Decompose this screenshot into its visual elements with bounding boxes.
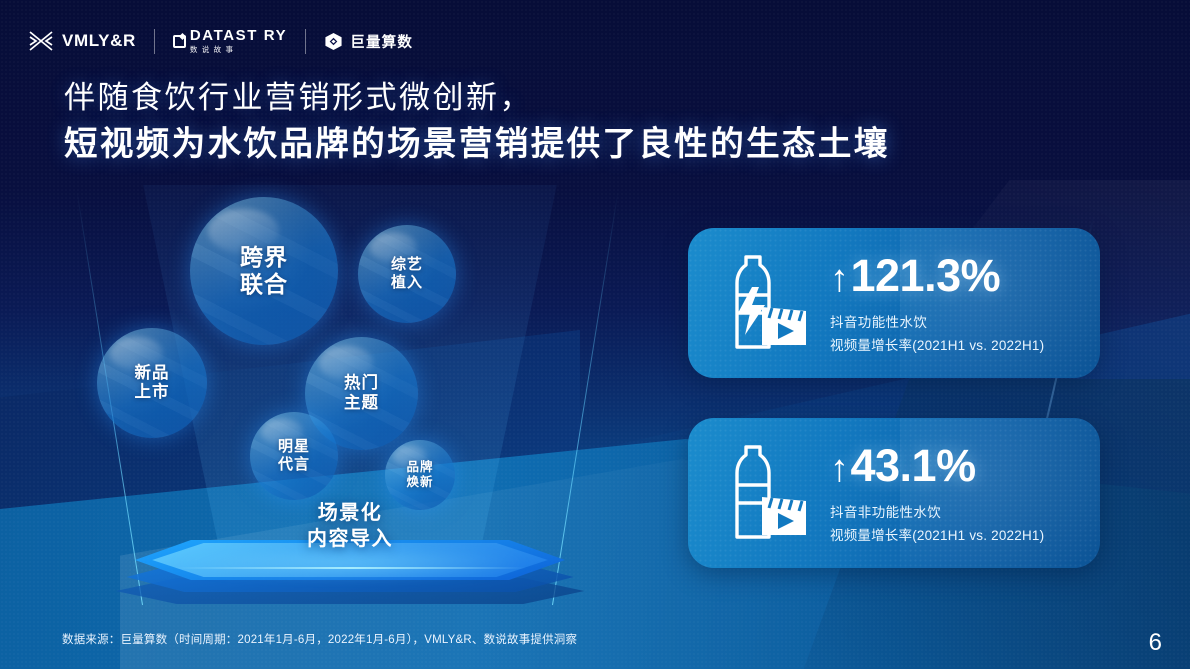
stat-card-functional-water[interactable]: ↑ 121.3% 抖音功能性水饮 视频量增长率(2021H1 vs. 2022H… — [688, 228, 1100, 378]
bottle-lightning-video-icon — [716, 251, 812, 355]
card-value-number: 121.3% — [851, 253, 1001, 298]
up-arrow-icon: ↑ — [830, 450, 849, 488]
title-block: 伴随食饮行业营销形式微创新， 短视频为水饮品牌的场景营销提供了良性的生态土壤 — [64, 78, 890, 167]
card-text-block: ↑ 43.1% 抖音非功能性水饮 视频量增长率(2021H1 vs. 2022H… — [830, 443, 1044, 544]
logo-divider-1 — [154, 29, 155, 54]
logo-divider-2 — [305, 29, 306, 54]
bottle-video-icon — [716, 441, 812, 545]
funnel-base-label-line2: 内容导入 — [90, 527, 610, 553]
logo-datastory-label: DATAST RY — [190, 28, 287, 43]
up-arrow-icon: ↑ — [830, 260, 849, 298]
logo-juliang: 巨量算数 — [324, 31, 413, 52]
bubble-shine — [393, 446, 427, 467]
logo-datastory: DATAST RY 数说故事 — [173, 28, 287, 54]
card-caption-line2: 视频量增长率(2021H1 vs. 2022H1) — [830, 524, 1044, 544]
logo-datastory-sublabel: 数说故事 — [190, 46, 287, 54]
logo-vmlyr-label: VMLY&R — [62, 31, 136, 51]
data-source-note: 数据来源：巨量算数（时间周期：2021年1月-6月，2022年1月-6月），VM… — [62, 631, 577, 647]
stat-card-list: ↑ 121.3% 抖音功能性水饮 视频量增长率(2021H1 vs. 2022H… — [688, 228, 1100, 568]
bubble-celebrity-endorsement[interactable]: 明星 代言 — [250, 412, 338, 500]
scenario-funnel-diagram: 跨界 联合 综艺 植入 新品 上市 热门 主题 明星 代言 — [90, 185, 610, 605]
logo-bar: VMLY&R DATAST RY 数说故事 巨量算数 — [28, 27, 413, 55]
clapperboard-icon — [762, 497, 806, 535]
card-text-block: ↑ 121.3% 抖音功能性水饮 视频量增长率(2021H1 vs. 2022H… — [830, 253, 1044, 354]
page-number: 6 — [1149, 629, 1162, 657]
bubble-shine — [370, 233, 417, 262]
logo-vmlyr: VMLY&R — [28, 30, 136, 52]
card-value: ↑ 121.3% — [830, 253, 1044, 298]
bubble-brand-renewal[interactable]: 品牌 焕新 — [385, 440, 455, 510]
bubble-shine — [261, 419, 303, 445]
slide-canvas: VMLY&R DATAST RY 数说故事 巨量算数 伴随食饮行业营销形式微创新… — [0, 0, 1190, 669]
funnel-base-label-line1: 场景化 — [90, 501, 610, 527]
card-value: ↑ 43.1% — [830, 443, 1044, 488]
vmlyr-x-icon — [28, 30, 54, 52]
card-caption-line2: 视频量增长率(2021H1 vs. 2022H1) — [830, 334, 1044, 354]
bubble-cross-industry[interactable]: 跨界 联合 — [190, 197, 338, 345]
bubble-shine — [208, 209, 279, 253]
hexagon-edge-highlight — [174, 567, 527, 569]
stat-card-nonfunctional-water[interactable]: ↑ 43.1% 抖音非功能性水饮 视频量增长率(2021H1 vs. 2022H… — [688, 418, 1100, 568]
clapperboard-icon — [762, 307, 806, 345]
bubble-new-product[interactable]: 新品 上市 — [97, 328, 207, 438]
funnel-base-label: 场景化 内容导入 — [90, 501, 610, 552]
bubble-shine — [110, 337, 163, 370]
card-value-number: 43.1% — [851, 443, 976, 488]
title-line-2: 短视频为水饮品牌的场景营销提供了良性的生态土壤 — [64, 124, 890, 167]
datastory-badge-icon — [173, 35, 186, 48]
bubble-variety-show[interactable]: 综艺 植入 — [358, 225, 456, 323]
logo-juliang-label: 巨量算数 — [350, 31, 413, 52]
card-caption-line1: 抖音功能性水饮 — [830, 311, 1044, 331]
title-line-1: 伴随食饮行业营销形式微创新， — [64, 78, 890, 118]
card-caption-line1: 抖音非功能性水饮 — [830, 501, 1044, 521]
juliang-hex-icon — [324, 32, 343, 51]
hexagon-glow — [169, 548, 530, 578]
bubble-shine — [319, 346, 373, 380]
